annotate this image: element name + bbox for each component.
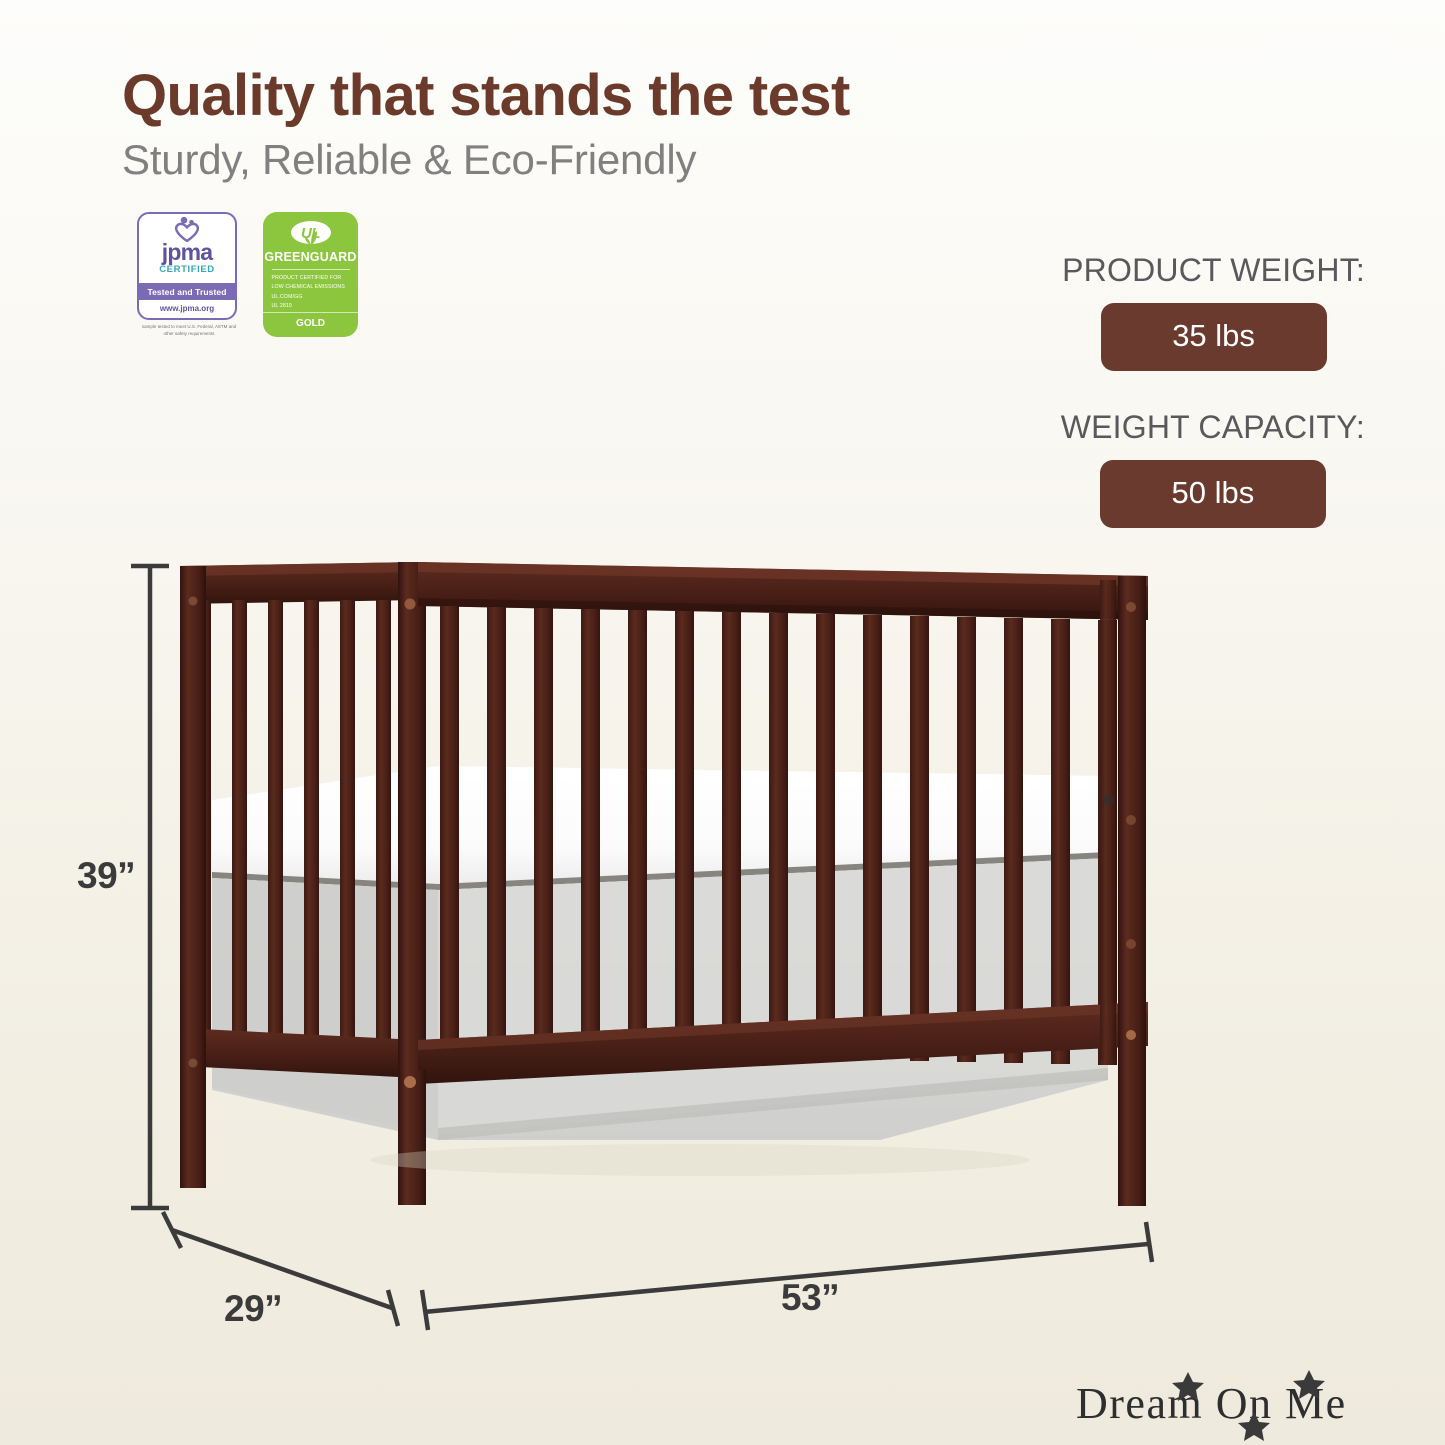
dimension-label-depth: 29” (224, 1288, 282, 1330)
header-block: Quality that stands the test Sturdy, Rel… (122, 66, 1122, 183)
slat (440, 606, 459, 1051)
right-front-post (1118, 576, 1146, 1206)
jpma-url: www.jpma.org (139, 300, 235, 318)
jpma-badge: jpma CERTIFIED Tested and Trusted www.jp… (137, 212, 241, 337)
jpma-fine-print: sample tested to meet U.S. Federal, ASTM… (137, 324, 241, 337)
slat (487, 607, 506, 1052)
front-top-rail-highlight (418, 562, 1148, 586)
left-panel-top-rail (180, 562, 418, 604)
slat (957, 617, 976, 1062)
jpma-card: jpma CERTIFIED Tested and Trusted www.jp… (137, 212, 237, 320)
screw-cap (1126, 939, 1136, 949)
slat (268, 600, 283, 1040)
dim-cap-depth-right (388, 1290, 398, 1326)
crib-left-panel (180, 562, 426, 1204)
ul-mark-icon: UL (291, 221, 331, 244)
screw-caps (189, 597, 1137, 1089)
spec-weight-capacity: WEIGHT CAPACITY: 50 lbs (1061, 409, 1365, 528)
crib-skirt-side (212, 878, 438, 1135)
greenguard-badge: UL GREENGUARD PRODUCT CERTIFIED FOR LOW … (263, 212, 358, 337)
leg-rear-left (180, 1060, 206, 1188)
dim-cap-width-left (422, 1290, 428, 1330)
left-panel-top-highlight (180, 562, 418, 576)
slat (232, 600, 247, 1040)
greenguard-divider (272, 269, 350, 270)
screw-cap (1126, 1030, 1136, 1040)
greenguard-subline: UL.COM/GG (272, 293, 350, 303)
mattress (212, 766, 1108, 884)
slat (1004, 618, 1023, 1063)
front-bottom-rail (418, 1002, 1148, 1084)
left-panel-slats (196, 600, 391, 1040)
bedding-group (212, 766, 1108, 1140)
certification-badges: jpma CERTIFIED Tested and Trusted www.jp… (137, 212, 358, 337)
mattress-seam (212, 852, 1108, 890)
star-icon (1172, 1372, 1204, 1401)
slat (816, 614, 835, 1059)
screw-cap (404, 1076, 416, 1088)
screw-cap (405, 599, 416, 610)
crib-skirt-front (438, 858, 1108, 1135)
dimension-lines (131, 566, 1152, 1330)
dimension-label-width: 53” (781, 1277, 839, 1319)
front-top-rail (418, 562, 1148, 620)
jpma-tagline: Tested and Trusted (139, 283, 235, 300)
slat (675, 611, 694, 1056)
slat (304, 600, 319, 1040)
front-bottom-rail-highlight (418, 1002, 1148, 1050)
leg-front-left (398, 1070, 426, 1205)
spec-value-badge: 35 lbs (1101, 303, 1327, 371)
greenguard-subline: UL 2819 (272, 302, 350, 312)
slat (628, 610, 647, 1055)
front-top-rail-shadow (418, 598, 1148, 620)
jpma-card-top: jpma CERTIFIED (139, 214, 235, 283)
floor-shadow (370, 1144, 1030, 1176)
slat (910, 616, 929, 1061)
greenguard-level: GOLD (263, 312, 358, 337)
logo-stars (1076, 1370, 1396, 1444)
jpma-certified-label: CERTIFIED (159, 264, 215, 275)
crib-legs (180, 1040, 1146, 1205)
dimension-label-height: 39” (77, 855, 135, 897)
mattress-top-face (438, 766, 1108, 790)
slat (1098, 620, 1117, 1065)
leg-front-right (1118, 1040, 1146, 1170)
greenguard-subline: PRODUCT CERTIFIED FOR (272, 274, 350, 284)
spec-label: PRODUCT WEIGHT: (1062, 252, 1365, 289)
page-subtitle: Sturdy, Reliable & Eco-Friendly (122, 138, 1122, 183)
star-icon (1238, 1412, 1270, 1441)
brand-logo: Dream On Me (1076, 1370, 1396, 1444)
crib-right-panel (1100, 576, 1146, 1206)
infographic-canvas: Quality that stands the test Sturdy, Rel… (0, 0, 1445, 1445)
screw-cap (189, 1059, 198, 1068)
crib-front-side (418, 562, 1148, 1084)
jpma-wordmark: jpma (162, 243, 212, 263)
screw-cap (1126, 815, 1136, 825)
slat (534, 608, 553, 1053)
dim-cap-width-right (1146, 1222, 1152, 1262)
greenguard-name: GREENGUARD (264, 250, 356, 264)
leaf-icon (303, 227, 319, 245)
right-inner-post (1100, 580, 1116, 1060)
page-title: Quality that stands the test (122, 66, 1122, 126)
screw-cap (1126, 602, 1136, 612)
spec-product-weight: PRODUCT WEIGHT: 35 lbs (1062, 252, 1365, 371)
greenguard-subline: LOW CHEMICAL EMISSIONS (272, 283, 350, 293)
star-icon (1293, 1370, 1325, 1399)
slat (1051, 619, 1070, 1064)
screw-cap (189, 597, 198, 606)
spec-panel: PRODUCT WEIGHT: 35 lbs WEIGHT CAPACITY: … (1061, 252, 1365, 528)
greenguard-subtext: PRODUCT CERTIFIED FOR LOW CHEMICAL EMISS… (272, 274, 350, 313)
left-rear-post (180, 566, 206, 1186)
mattress-bracket (1102, 794, 1114, 806)
slat (376, 600, 391, 1040)
dim-cap-depth-left (163, 1212, 181, 1248)
crib-skirt (212, 858, 1108, 1140)
spec-label: WEIGHT CAPACITY: (1061, 409, 1365, 446)
slat (863, 615, 882, 1060)
spec-value-badge: 50 lbs (1100, 460, 1326, 528)
slat (722, 612, 741, 1057)
crib-skirt-hem (438, 1068, 1108, 1140)
left-front-post (398, 562, 426, 1204)
left-panel-bottom-rail (180, 1028, 418, 1078)
front-slats (440, 606, 1117, 1065)
slat (196, 600, 211, 1040)
slat (340, 600, 355, 1040)
slat (581, 609, 600, 1054)
slat (769, 613, 788, 1058)
